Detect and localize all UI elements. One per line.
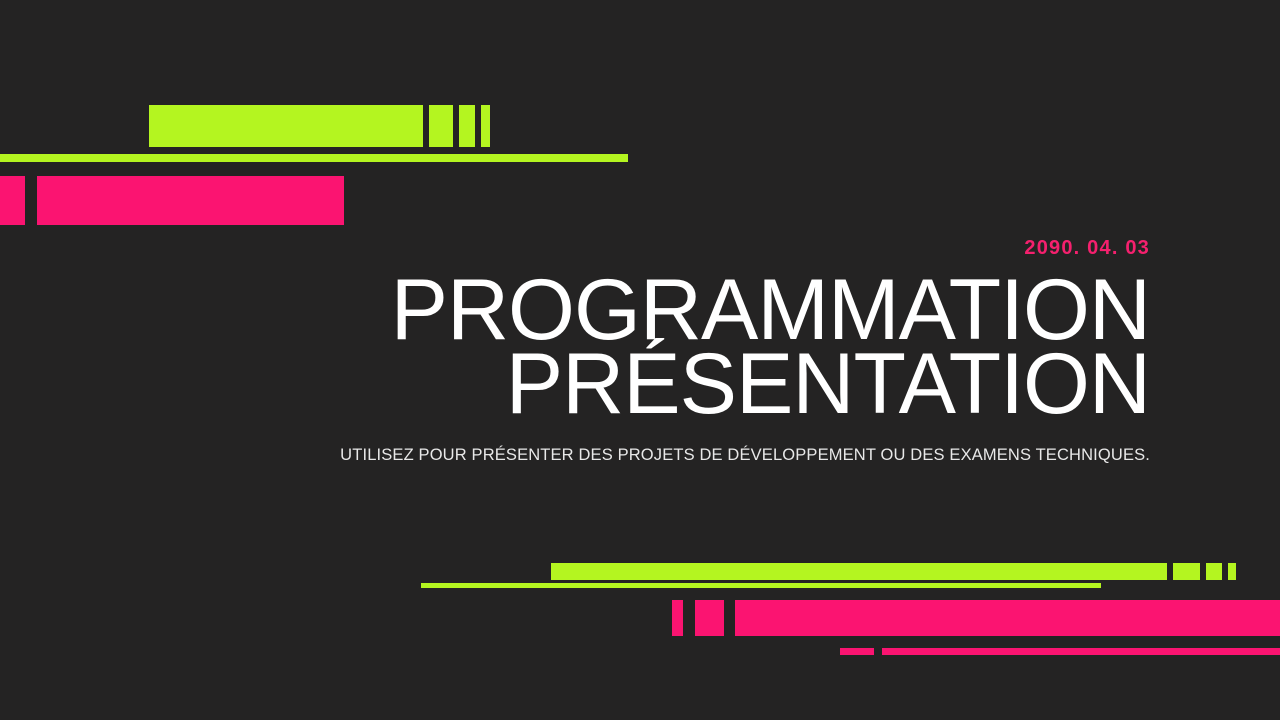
green-segment-top-3 (481, 105, 490, 147)
page-title-line-2: PRÉSENTATION (0, 348, 1150, 422)
title-slide: 2090. 04. 03 PROGRAMMATION PRÉSENTATION … (0, 0, 1280, 720)
pink-bar-top-main (37, 176, 344, 225)
green-segment-top-1 (429, 105, 453, 147)
pink-bar-bottom-main (735, 600, 1280, 636)
green-segment-bottom-1 (1173, 563, 1200, 580)
pink-segment-top-1 (0, 176, 25, 225)
pink-rule-bottom-long (882, 648, 1280, 655)
green-rule-top (0, 154, 628, 162)
title-text-block: 2090. 04. 03 PROGRAMMATION PRÉSENTATION … (0, 236, 1150, 465)
pink-segment-bottom-2 (695, 600, 724, 636)
green-bar-top-main (149, 105, 423, 147)
green-bar-bottom-main (551, 563, 1167, 580)
green-segment-top-2 (459, 105, 475, 147)
green-segment-bottom-2 (1206, 563, 1222, 580)
presentation-date: 2090. 04. 03 (0, 236, 1150, 260)
pink-segment-bottom-1 (672, 600, 683, 636)
green-segment-bottom-3 (1228, 563, 1236, 580)
pink-rule-bottom-short (840, 648, 874, 655)
green-rule-bottom (421, 583, 1101, 588)
page-subtitle: UTILISEZ POUR PRÉSENTER DES PROJETS DE D… (0, 446, 1150, 465)
